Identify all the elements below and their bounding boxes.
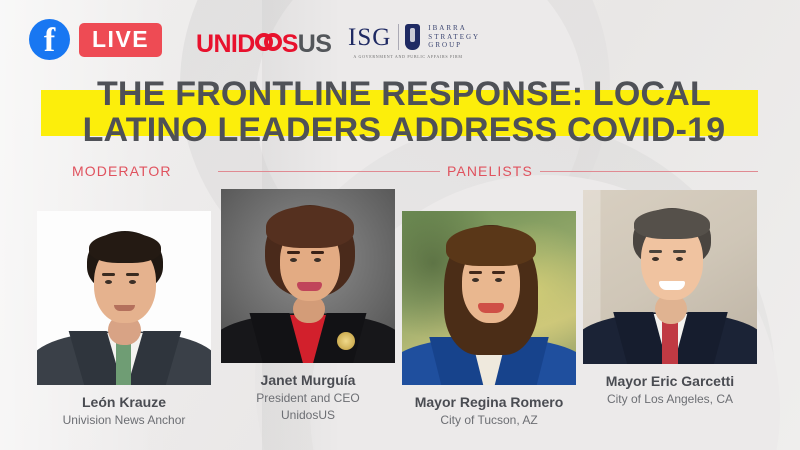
facebook-live-logo: f LIVE (29, 19, 162, 60)
portrait-eric-garcetti (583, 190, 757, 364)
person-name: Janet Murguía (221, 372, 395, 389)
title-line-1: THE FRONTLINE RESPONSE: LOCAL (0, 76, 800, 112)
isg-logo: ISG IBARRA STRATEGY GROUP A GOVERNMENT A… (348, 24, 480, 59)
person-card-panelist-2: Mayor Regina Romero City of Tucson, AZ (402, 211, 576, 428)
person-caption: Janet Murguía President and CEO UnidosUS (221, 372, 395, 423)
portrait-janet-murguia (221, 189, 395, 363)
title-line-2: LATINO LEADERS ADDRESS COVID-19 (0, 112, 800, 148)
facebook-f-icon: f (29, 19, 70, 60)
role-rule-left (218, 171, 440, 172)
logo-bar: f LIVE UNID S US ISG IBARRA (0, 0, 800, 70)
person-role: City of Los Angeles, CA (583, 392, 757, 407)
person-role-secondary: UnidosUS (221, 408, 395, 423)
person-role: City of Tucson, AZ (402, 413, 576, 428)
isg-line-2: STRATEGY (428, 33, 480, 42)
isg-divider (398, 24, 399, 50)
person-caption: León Krauze Univision News Anchor (37, 394, 211, 428)
unidos-text-tail: S (282, 30, 298, 59)
live-badge-label: LIVE (92, 28, 149, 51)
unidos-text-red: UNID (196, 30, 255, 59)
isg-tagline: A GOVERNMENT AND PUBLIC AFFAIRS FIRM (348, 54, 468, 59)
ibarra-crest-icon (405, 24, 420, 50)
isg-name-lines: IBARRA STRATEGY GROUP (428, 24, 480, 50)
person-caption: Mayor Regina Romero City of Tucson, AZ (402, 394, 576, 428)
double-o-right (264, 33, 282, 51)
person-name: León Krauze (37, 394, 211, 411)
person-card-moderator: León Krauze Univision News Anchor (37, 211, 211, 428)
portrait-leon-krauze (37, 211, 211, 385)
page-title: THE FRONTLINE RESPONSE: LOCAL LATINO LEA… (0, 76, 800, 148)
portrait-regina-romero (402, 211, 576, 385)
facebook-f-glyph: f (29, 19, 70, 60)
person-caption: Mayor Eric Garcetti City of Los Angeles,… (583, 373, 757, 407)
person-card-panelist-3: Mayor Eric Garcetti City of Los Angeles,… (583, 190, 757, 407)
unidos-text-us: US (298, 30, 332, 59)
person-name: Mayor Eric Garcetti (583, 373, 757, 390)
crest-shape (405, 24, 420, 50)
moderator-label: MODERATOR (72, 164, 172, 178)
person-role: President and CEO (221, 391, 395, 406)
live-badge: LIVE (79, 23, 162, 57)
person-name: Mayor Regina Romero (402, 394, 576, 411)
promo-graphic: f LIVE UNID S US ISG IBARRA (0, 0, 800, 450)
title-block: THE FRONTLINE RESPONSE: LOCAL LATINO LEA… (0, 76, 800, 148)
isg-line-1: IBARRA (428, 24, 480, 33)
panelists-label: PANELISTS (447, 164, 533, 178)
isg-line-3: GROUP (428, 41, 480, 50)
role-label-row: MODERATOR PANELISTS (0, 160, 800, 182)
double-o-mark (255, 32, 282, 52)
unidosus-logo: UNID S US (196, 30, 331, 59)
isg-wordmark: ISG (348, 25, 391, 50)
person-role: Univision News Anchor (37, 413, 211, 428)
role-rule-right (540, 171, 758, 172)
person-card-panelist-1: Janet Murguía President and CEO UnidosUS (221, 189, 395, 423)
